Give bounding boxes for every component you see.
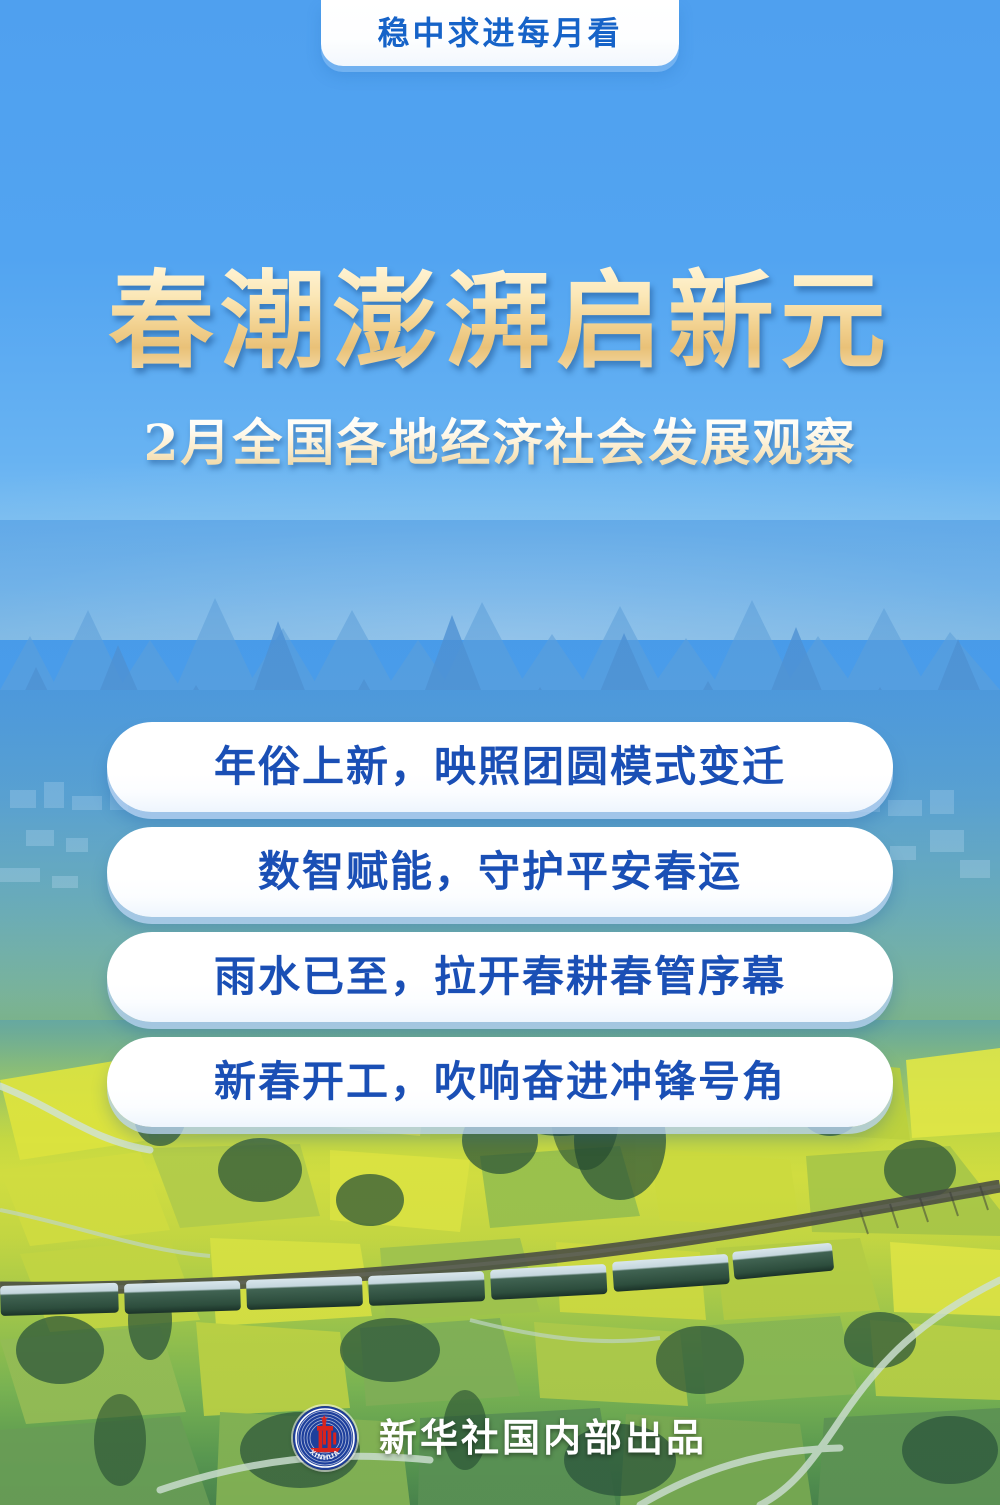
footer: XINHUA 新华社国内部出品 xyxy=(0,1398,1000,1478)
list-item[interactable]: 新春开工，吹响奋进冲锋号角 xyxy=(107,1037,893,1127)
list-item[interactable]: 雨水已至，拉开春耕春管序幕 xyxy=(107,932,893,1022)
series-badge-label: 稳中求进每月看 xyxy=(377,17,622,49)
page-title: 春潮澎湃启新元 xyxy=(108,265,892,377)
list-item-label: 年俗上新，映照团圆模式变迁 xyxy=(214,746,786,788)
train xyxy=(0,1240,1000,1350)
headline-list: 年俗上新，映照团圆模式变迁 数智赋能，守护平安春运 雨水已至，拉开春耕春管序幕 … xyxy=(0,722,1000,1142)
series-badge[interactable]: 稳中求进每月看 xyxy=(321,0,679,66)
poster-root: 稳中求进每月看 春潮澎湃启新元 2月全国各地经济社会发展观察 年俗上新，映照团圆… xyxy=(0,0,1000,1505)
list-item-label: 新春开工，吹响奋进冲锋号角 xyxy=(214,1061,786,1103)
title-block: 春潮澎湃启新元 2月全国各地经济社会发展观察 xyxy=(0,265,1000,475)
top-badge-container: 稳中求进每月看 xyxy=(0,0,1000,80)
footer-credit: 新华社国内部出品 xyxy=(379,1419,707,1457)
xinhua-logo-icon: XINHUA xyxy=(293,1406,357,1470)
list-item[interactable]: 数智赋能，守护平安春运 xyxy=(107,827,893,917)
list-item[interactable]: 年俗上新，映照团圆模式变迁 xyxy=(107,722,893,812)
list-item-label: 数智赋能，守护平安春运 xyxy=(258,851,742,893)
page-subtitle: 2月全国各地经济社会发展观察 xyxy=(144,403,857,475)
list-item-label: 雨水已至，拉开春耕春管序幕 xyxy=(214,956,786,998)
